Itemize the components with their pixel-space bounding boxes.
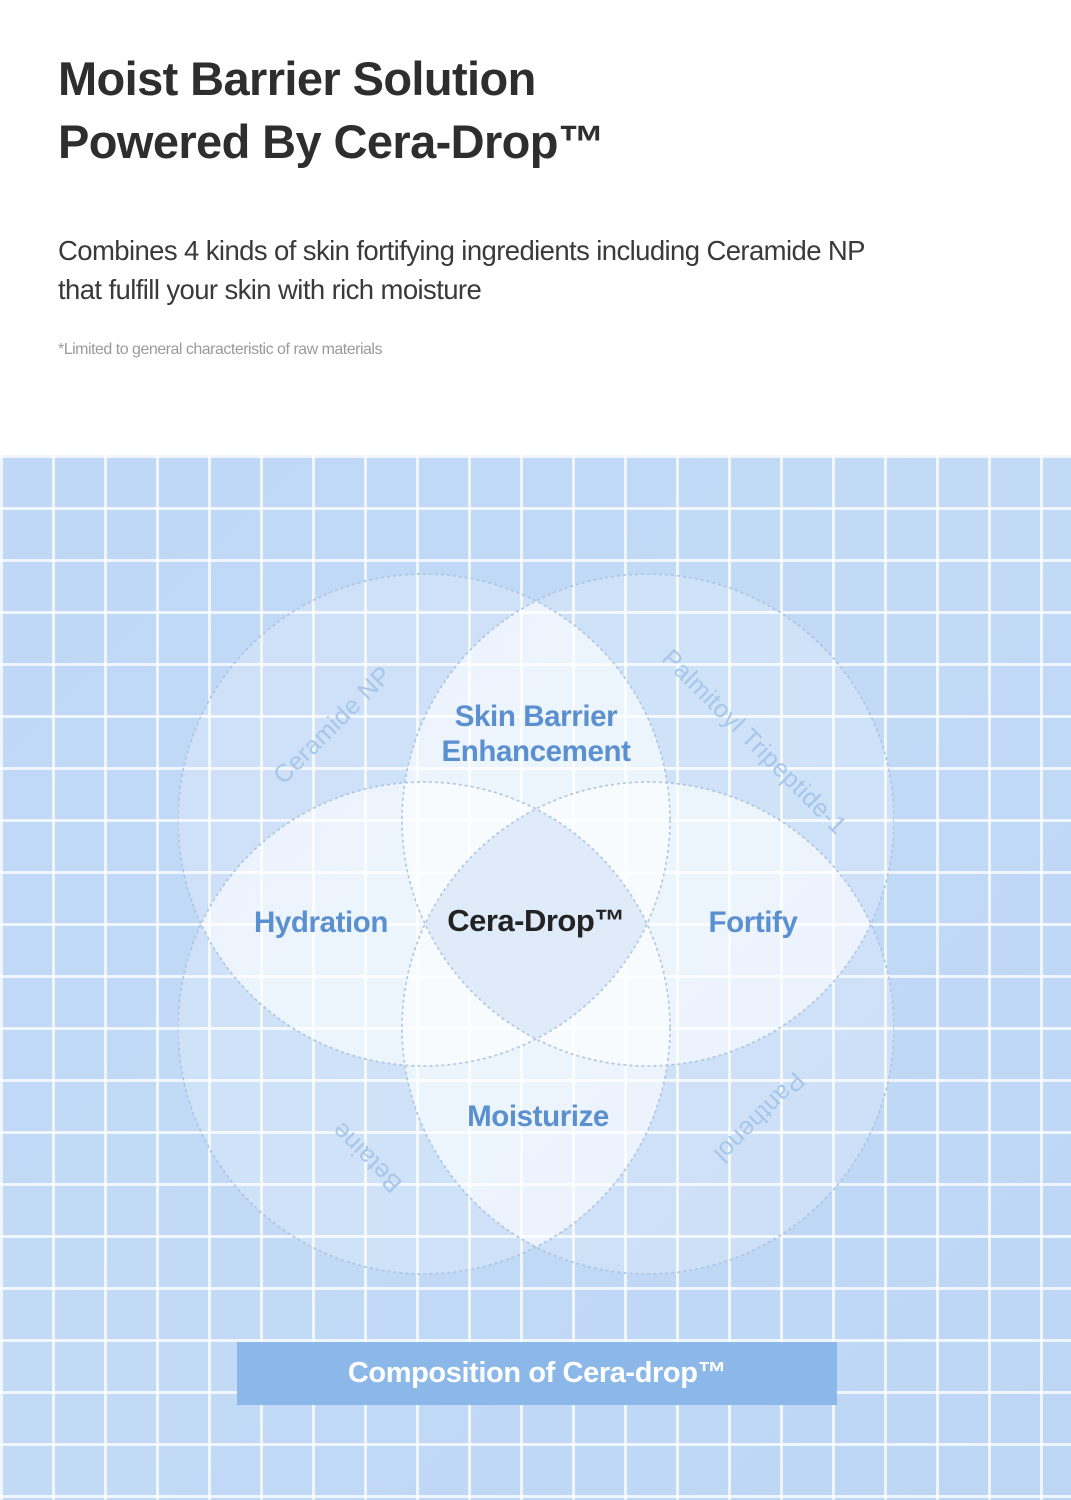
venn-diagram: Skin Barrier Enhancement Hydration Forti…	[178, 558, 894, 1290]
disclaimer-note: *Limited to general characteristic of ra…	[58, 341, 1013, 359]
page-title: Moist Barrier Solution Powered By Cera-D…	[58, 48, 1013, 173]
composition-banner-label: Composition of Cera-drop™	[348, 1357, 726, 1390]
venn-svg	[178, 558, 894, 1290]
page-subtitle: Combines 4 kinds of skin fortifying ingr…	[58, 231, 1013, 309]
product-infographic-page: Moist Barrier Solution Powered By Cera-D…	[0, 0, 1071, 1500]
composition-banner: Composition of Cera-drop™	[237, 1342, 837, 1405]
header-section: Moist Barrier Solution Powered By Cera-D…	[0, 0, 1071, 455]
